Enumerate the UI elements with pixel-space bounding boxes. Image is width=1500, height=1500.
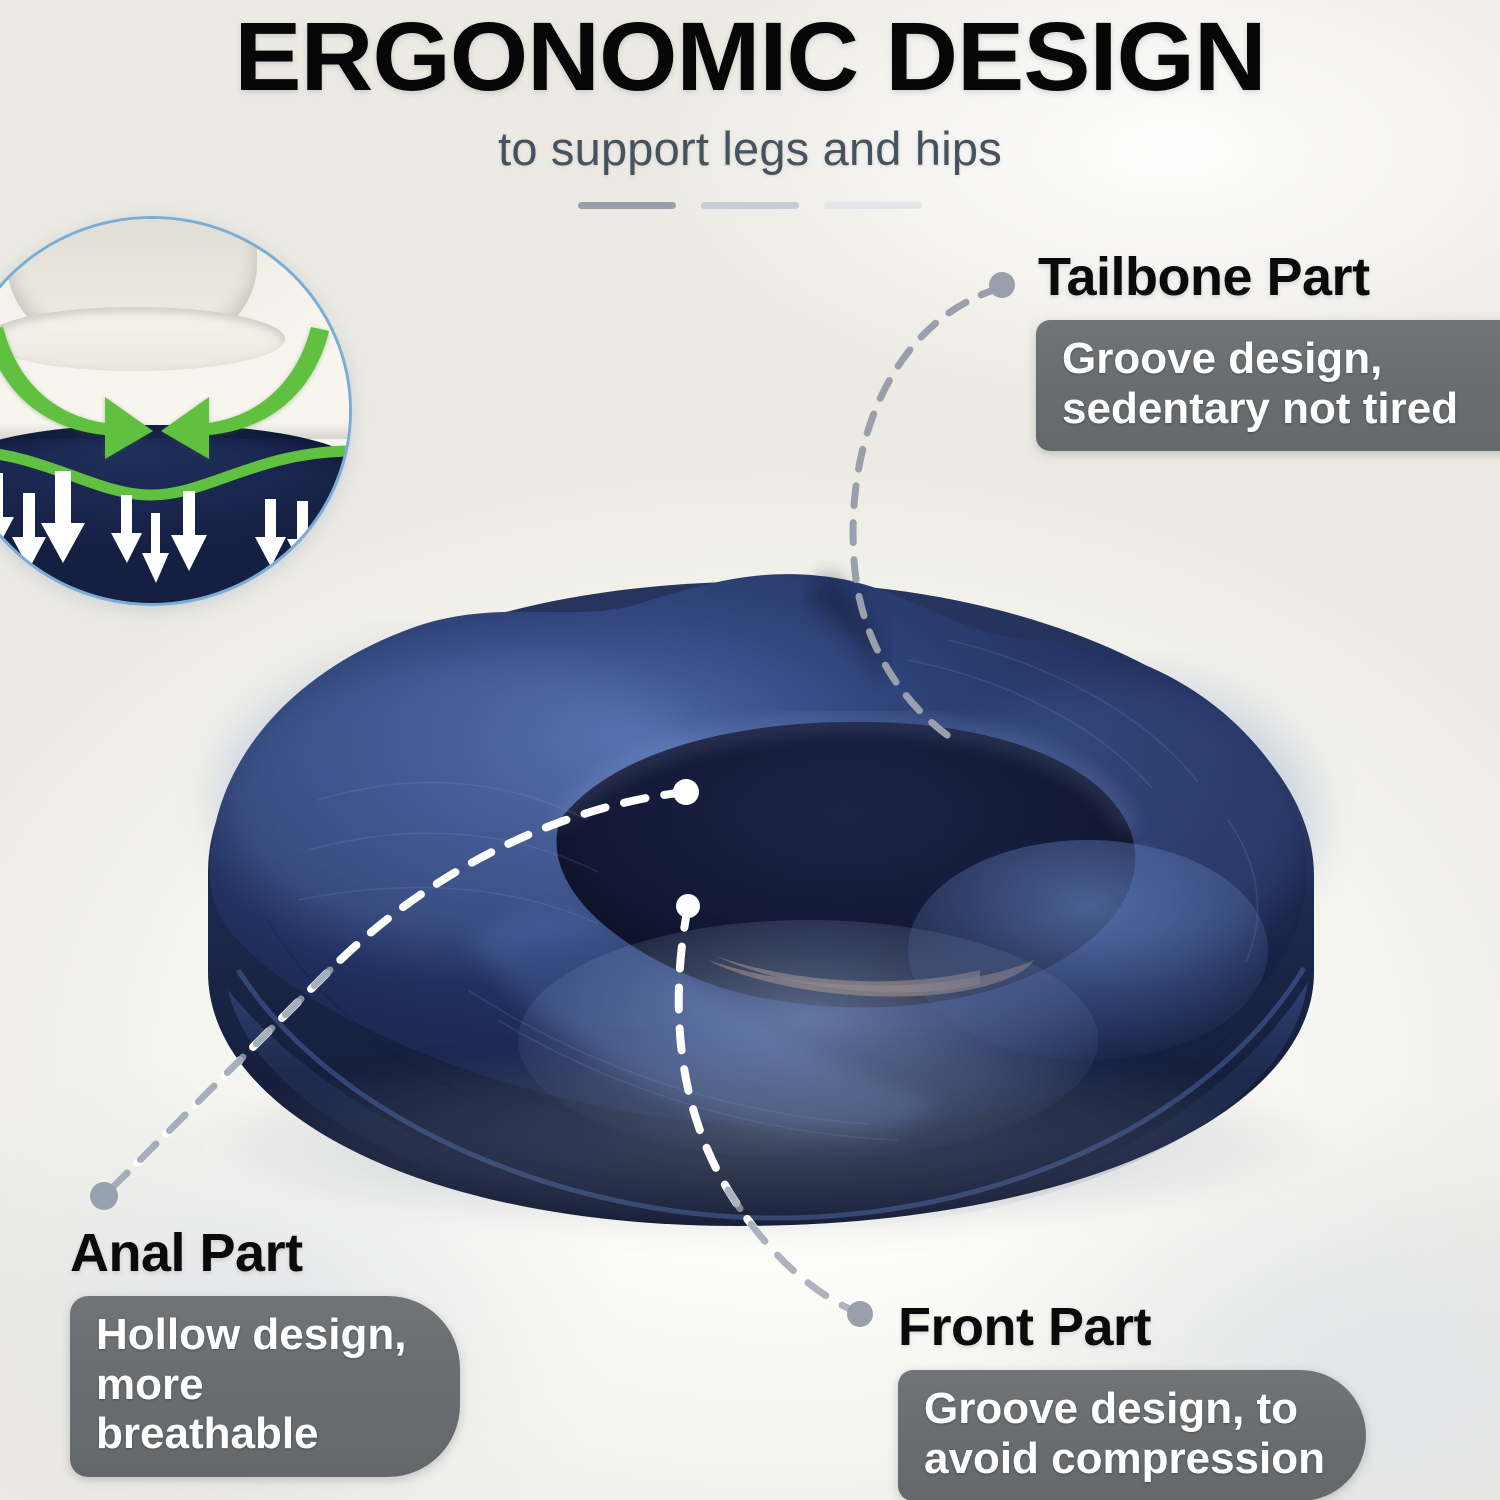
- divider-dash-2: [701, 202, 799, 209]
- white-down-arrows-right-icon: [255, 497, 352, 593]
- callout-title-anal: Anal Part: [70, 1222, 460, 1284]
- leader-dot-anal-end: [90, 1182, 118, 1210]
- pressure-distribution-inset: [0, 216, 352, 606]
- callout-title-tailbone: Tailbone Part: [1038, 246, 1500, 308]
- callout-badge-front: Groove design, to avoid compression: [898, 1370, 1366, 1500]
- donut-seat-cushion: [168, 520, 1358, 1260]
- callout-badge-tailbone: Groove design, sedentary not tired: [1036, 320, 1500, 451]
- header: ERGONOMIC DESIGN to support legs and hip…: [0, 0, 1500, 209]
- divider-dash-3: [824, 202, 922, 209]
- infographic-canvas: ERGONOMIC DESIGN to support legs and hip…: [0, 0, 1500, 1500]
- white-down-arrows-left-icon: [0, 471, 97, 589]
- cushion-drop-shadow: [208, 1040, 1328, 1240]
- callout-tailbone: Tailbone Part Groove design, sedentary n…: [1038, 246, 1500, 451]
- divider-dashes: [0, 202, 1500, 209]
- green-arrow-left-icon: [0, 319, 163, 459]
- callout-anal: Anal Part Hollow design, more breathable: [70, 1222, 460, 1477]
- callout-title-front: Front Part: [898, 1296, 1366, 1358]
- page-title: ERGONOMIC DESIGN: [0, 8, 1500, 105]
- leader-dot-front-end: [847, 1301, 873, 1327]
- green-arrow-right-icon: [151, 319, 331, 459]
- callout-front: Front Part Groove design, to avoid compr…: [898, 1296, 1366, 1500]
- white-down-arrows-center-icon: [111, 491, 221, 599]
- divider-dash-1: [578, 202, 676, 209]
- callout-badge-anal: Hollow design, more breathable: [70, 1296, 460, 1477]
- leader-dot-tailbone: [989, 272, 1015, 298]
- page-subtitle: to support legs and hips: [0, 121, 1500, 176]
